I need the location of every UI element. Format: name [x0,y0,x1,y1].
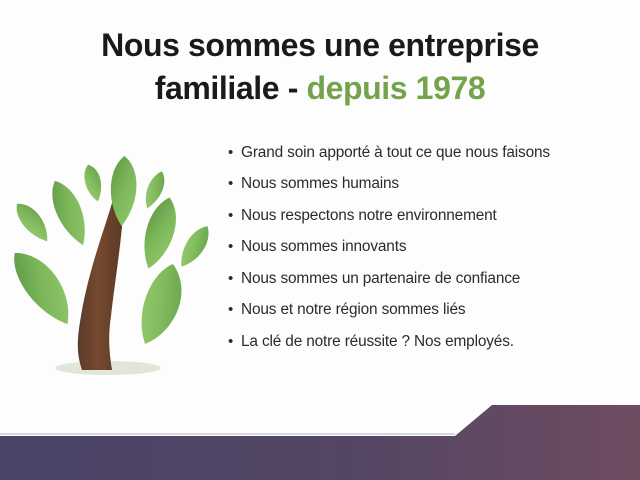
list-item-label: Nous sommes humains [241,175,628,193]
page-title-dash: - [288,70,298,106]
page-title-line-1: Nous sommes une entreprise [0,24,640,67]
list-item: • La clé de notre réussite ? Nos employé… [228,333,628,351]
bullet-icon: • [228,270,241,288]
footer-bar-fill [0,405,640,480]
bullet-icon: • [228,333,241,351]
tree-icon [8,140,213,390]
page-title-accent: depuis 1978 [306,70,485,106]
bullet-icon: • [228,301,241,319]
list-item: • Nous respectons notre environnement [228,207,628,225]
list-item-label: Grand soin apporté à tout ce que nous fa… [241,144,628,162]
bullet-icon: • [228,175,241,193]
bullet-icon: • [228,207,241,225]
footer-bar-shape [0,398,640,480]
page-title: Nous sommes une entreprise familiale - d… [0,24,640,110]
tree-trunk [78,196,124,370]
slide-canvas: Nous sommes une entreprise familiale - d… [0,0,640,480]
list-item: • Nous et notre région sommes liés [228,301,628,319]
feature-list: • Grand soin apporté à tout ce que nous … [228,144,628,364]
bullet-icon: • [228,144,241,162]
page-title-line-2-prefix: familiale [155,70,279,106]
list-item: • Nous sommes un partenaire de confiance [228,270,628,288]
list-item: • Nous sommes innovants [228,238,628,256]
list-item: • Grand soin apporté à tout ce que nous … [228,144,628,162]
list-item-label: Nous et notre région sommes liés [241,301,628,319]
list-item: • Nous sommes humains [228,175,628,193]
footer-bar: tabor-automobiles.fr [0,398,640,480]
page-title-line-2: familiale - depuis 1978 [0,67,640,110]
list-item-label: La clé de notre réussite ? Nos employés. [241,333,628,351]
bullet-icon: • [228,238,241,256]
list-item-label: Nous respectons notre environnement [241,207,628,225]
list-item-label: Nous sommes un partenaire de confiance [241,270,628,288]
list-item-label: Nous sommes innovants [241,238,628,256]
tree-illustration [8,140,213,390]
